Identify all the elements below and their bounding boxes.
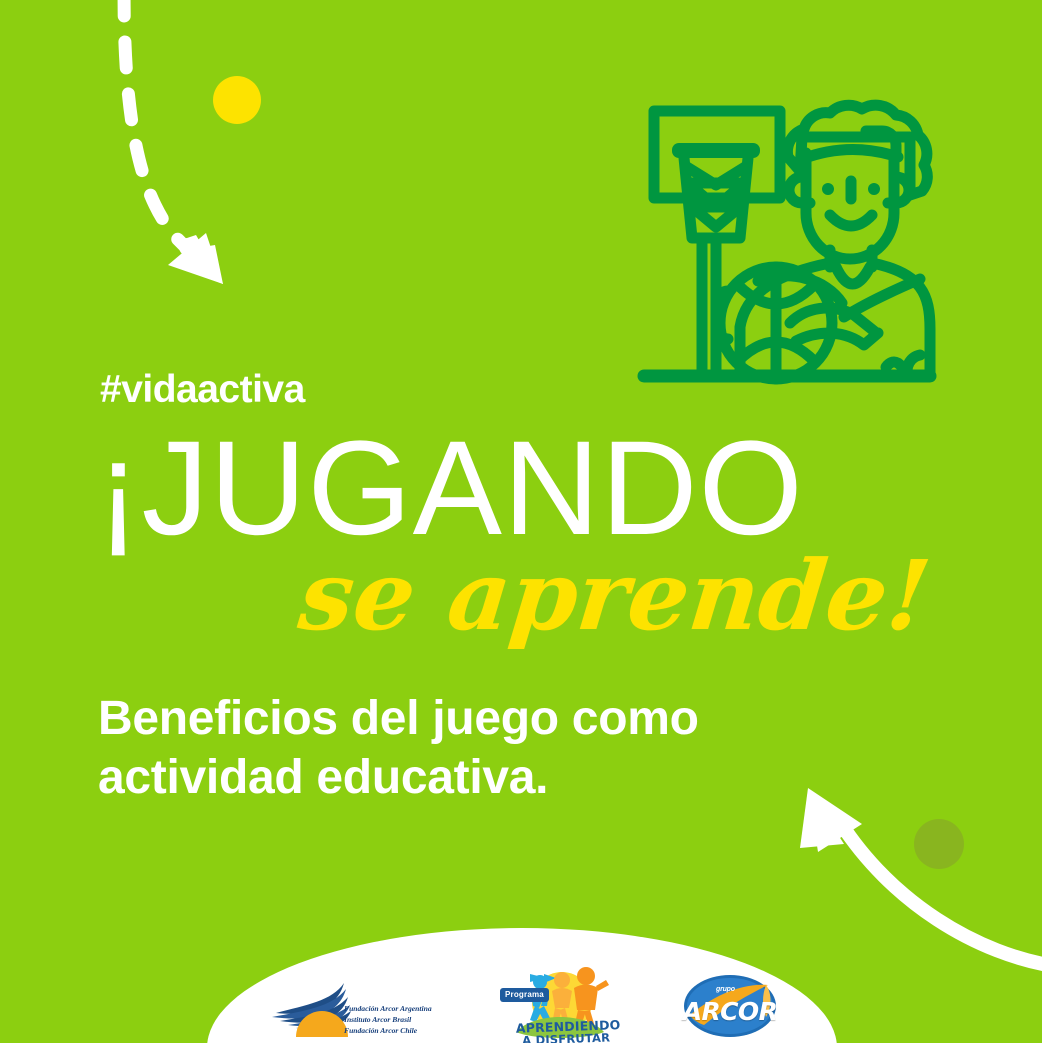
fundacion-arcor-logo: Fundación Arcor Argentina Instituto Arco… <box>266 975 436 1037</box>
aprendiendo-a-disfrutar-logo: Programa APRENDIENDO A DISFRUTAR PARA CR… <box>500 960 618 1043</box>
olive-circle-icon <box>914 819 964 869</box>
arcor-grupo-text: grupo <box>716 986 735 993</box>
subhead-line-2: actividad educativa. <box>98 749 718 808</box>
subhead-line-1: Beneficios del juego como <box>98 690 718 749</box>
basketball-player-illustration <box>630 95 942 395</box>
white-curved-arrow-up-icon <box>800 788 1042 967</box>
grupo-arcor-logo: grupo ARCOR <box>682 973 778 1039</box>
fundacion-line-1: Fundación Arcor Argentina <box>344 1003 432 1014</box>
page-title: ¡JUGANDO <box>96 425 804 552</box>
fundacion-line-3: Fundación Arcor Chile <box>344 1025 432 1036</box>
footer-logo-row: Fundación Arcor Argentina Instituto Arco… <box>207 964 837 1043</box>
script-subtitle: se aprende! <box>295 548 935 644</box>
arcor-wordmark: ARCOR <box>682 997 778 1026</box>
aprendiendo-word-line-2: A DISFRUTAR <box>516 1031 616 1043</box>
dashed-curved-arrow-down-icon <box>124 0 223 284</box>
hashtag-label: #vidaactiva <box>100 370 305 409</box>
aprendiendo-wordmark: APRENDIENDO A DISFRUTAR <box>516 1018 617 1043</box>
fundacion-arcor-text: Fundación Arcor Argentina Instituto Arco… <box>344 1003 432 1036</box>
programa-badge: Programa <box>500 988 549 1002</box>
fundacion-line-2: Instituto Arcor Brasil <box>344 1014 432 1025</box>
footer-panel: Fundación Arcor Argentina Instituto Arco… <box>207 928 837 1043</box>
subhead-text: Beneficios del juego como actividad educ… <box>98 690 718 807</box>
yellow-circle-icon <box>213 76 261 124</box>
poster-canvas: #vidaactiva ¡JUGANDO se aprende! Benefic… <box>0 0 1042 1043</box>
